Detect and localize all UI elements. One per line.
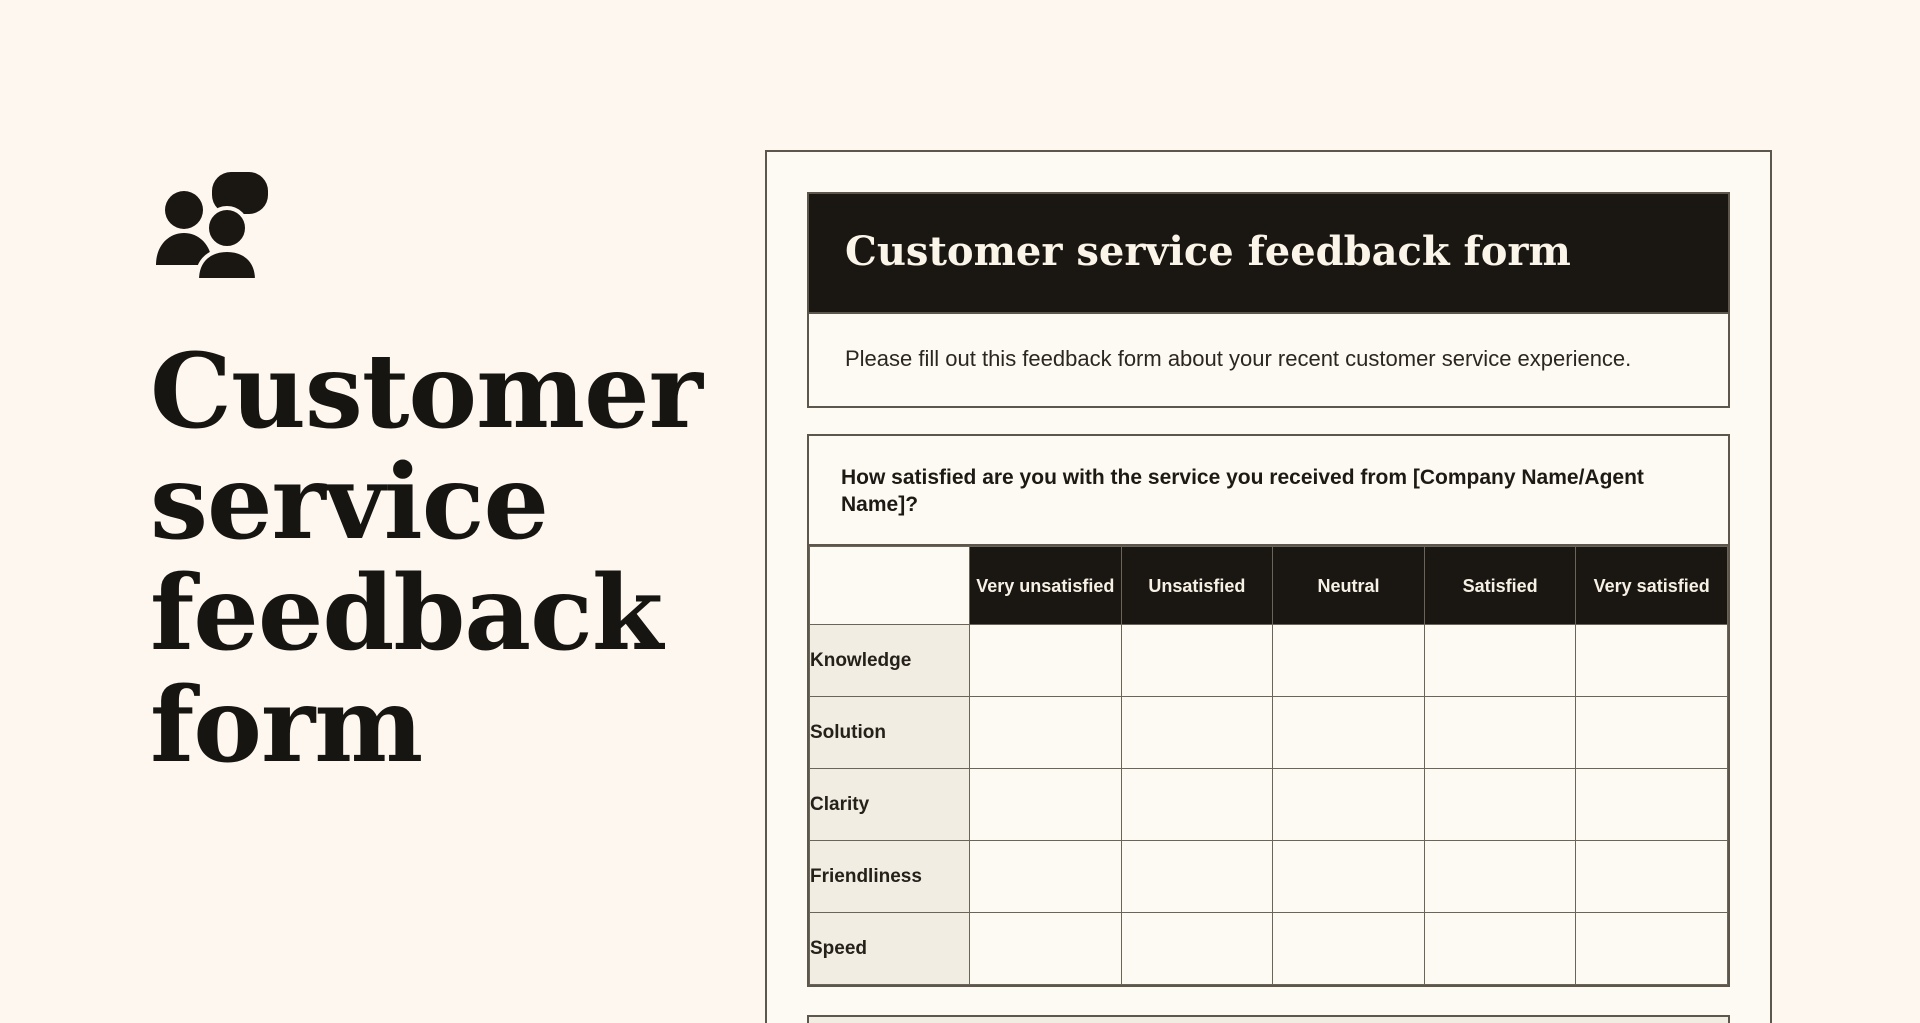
matrix-option-cell[interactable]	[970, 625, 1122, 697]
table-row: Friendliness	[810, 841, 1728, 913]
form-description-block: Please fill out this feedback form about…	[807, 312, 1730, 408]
matrix-option-cell[interactable]	[1576, 769, 1728, 841]
matrix-row-label-solution: Solution	[810, 697, 970, 769]
matrix-corner-cell	[810, 547, 970, 625]
matrix-option-cell[interactable]	[1121, 625, 1273, 697]
matrix-column-header-very-unsatisfied: Very unsatisfied	[970, 547, 1122, 625]
matrix-option-cell[interactable]	[1424, 913, 1576, 985]
matrix-option-cell[interactable]	[1576, 913, 1728, 985]
matrix-option-cell[interactable]	[970, 697, 1122, 769]
people-speech-bubble-icon	[150, 170, 270, 280]
matrix-option-cell[interactable]	[970, 913, 1122, 985]
matrix-option-cell[interactable]	[1273, 625, 1425, 697]
matrix-option-cell[interactable]	[1121, 913, 1273, 985]
matrix-option-cell[interactable]	[1576, 697, 1728, 769]
form-title: Customer service feedback form	[845, 230, 1692, 274]
matrix-row-label-knowledge: Knowledge	[810, 625, 970, 697]
table-row: Clarity	[810, 769, 1728, 841]
matrix-row-label-clarity: Clarity	[810, 769, 970, 841]
matrix-option-cell[interactable]	[1576, 841, 1728, 913]
matrix-option-cell[interactable]	[1424, 697, 1576, 769]
document-preview-panel: Customer service feedback form Please fi…	[765, 150, 1772, 1023]
matrix-column-header-very-satisfied: Very satisfied	[1576, 547, 1728, 625]
matrix-option-cell[interactable]	[1424, 769, 1576, 841]
matrix-row-label-speed: Speed	[810, 913, 970, 985]
feedback-form: Customer service feedback form Please fi…	[807, 192, 1730, 1023]
matrix-column-header-neutral: Neutral	[1273, 547, 1425, 625]
response-time-question: How long did it take for the service tea…	[807, 1015, 1730, 1023]
matrix-header-row: Very unsatisfied Unsatisfied Neutral Sat…	[810, 547, 1728, 625]
matrix-row-label-friendliness: Friendliness	[810, 841, 970, 913]
matrix-option-cell[interactable]	[1273, 913, 1425, 985]
table-row: Solution	[810, 697, 1728, 769]
matrix-option-cell[interactable]	[1273, 769, 1425, 841]
hero-panel: Customer service feedback form	[0, 0, 765, 1023]
satisfaction-matrix-table: Very unsatisfied Unsatisfied Neutral Sat…	[809, 546, 1728, 985]
table-row: Speed	[810, 913, 1728, 985]
matrix-column-header-satisfied: Satisfied	[1424, 547, 1576, 625]
matrix-option-cell[interactable]	[1273, 841, 1425, 913]
form-description-text: Please fill out this feedback form about…	[845, 344, 1692, 374]
matrix-option-cell[interactable]	[970, 769, 1122, 841]
matrix-option-cell[interactable]	[1424, 841, 1576, 913]
matrix-option-cell[interactable]	[1121, 697, 1273, 769]
matrix-option-cell[interactable]	[1576, 625, 1728, 697]
matrix-option-cell[interactable]	[1424, 625, 1576, 697]
matrix-option-cell[interactable]	[970, 841, 1122, 913]
matrix-option-cell[interactable]	[1273, 697, 1425, 769]
matrix-column-header-unsatisfied: Unsatisfied	[1121, 547, 1273, 625]
page-title: Customer service feedback form	[150, 336, 620, 781]
matrix-option-cell[interactable]	[1121, 841, 1273, 913]
response-time-question-title: How long did it take for the service tea…	[809, 1017, 1728, 1023]
matrix-option-cell[interactable]	[1121, 769, 1273, 841]
form-title-bar: Customer service feedback form	[807, 192, 1730, 312]
table-row: Knowledge	[810, 625, 1728, 697]
satisfaction-matrix-question: How satisfied are you with the service y…	[807, 434, 1730, 988]
matrix-question-title: How satisfied are you with the service y…	[809, 436, 1728, 547]
